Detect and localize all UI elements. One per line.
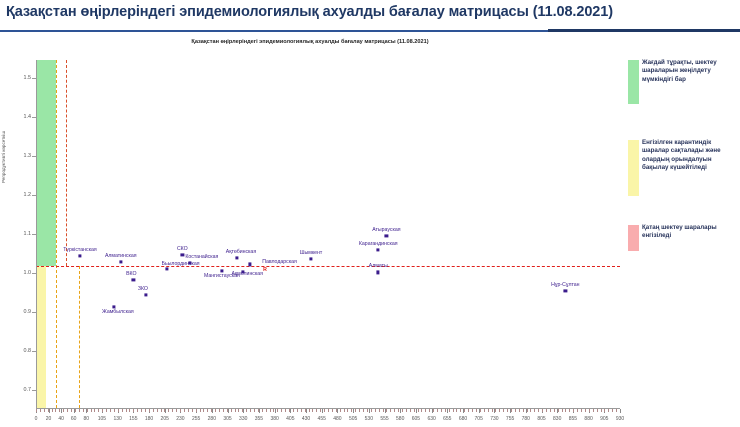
x-tick-minor-mark [293, 409, 294, 412]
x-tick-minor-mark [203, 409, 204, 412]
x-tick-minor-mark [604, 409, 605, 412]
x-tick-minor-mark [207, 409, 208, 412]
x-tick-minor-mark [410, 409, 411, 412]
y-tick-mark [32, 195, 36, 196]
data-point-label: Түркістанская [63, 247, 96, 253]
x-tick-minor-mark [347, 409, 348, 412]
x-tick-minor-mark [200, 409, 201, 412]
x-tick-label: 40 [58, 416, 64, 422]
x-tick-minor-mark [542, 409, 543, 412]
x-tick-minor-mark [386, 409, 387, 412]
x-tick-minor-mark [608, 409, 609, 412]
y-tick-label: 1.4 [24, 114, 32, 120]
x-tick-minor-mark [219, 409, 220, 412]
x-tick-minor-mark [316, 409, 317, 412]
x-tick-minor-mark [569, 409, 570, 412]
x-tick-minor-mark [484, 409, 485, 412]
x-tick-mark [337, 409, 338, 413]
data-point-label: Павлодарская [262, 259, 297, 265]
x-tick-label: 305 [223, 416, 231, 422]
x-tick-minor-mark [449, 409, 450, 412]
x-tick-minor-mark [456, 409, 457, 412]
x-tick-minor-mark [585, 409, 586, 412]
reference-line-r1 [36, 266, 620, 267]
x-tick-minor-mark [612, 409, 613, 412]
y-tick-mark [32, 390, 36, 391]
x-tick-label: 480 [333, 416, 341, 422]
x-tick-minor-mark [433, 409, 434, 412]
x-tick-minor-mark [122, 409, 123, 412]
x-tick-minor-mark [414, 409, 415, 412]
x-tick-minor-mark [554, 409, 555, 412]
x-tick-mark [306, 409, 307, 413]
x-tick-minor-mark [129, 409, 130, 412]
x-tick-minor-mark [285, 409, 286, 412]
legend-label: Қатаң шектеу шаралары енгізіледі [642, 224, 738, 241]
data-point [165, 268, 168, 271]
x-tick-minor-mark [273, 409, 274, 412]
x-tick-minor-mark [184, 409, 185, 412]
data-point-label: Алматинская [105, 253, 137, 259]
data-point [132, 279, 135, 282]
x-tick-minor-mark [507, 409, 508, 412]
x-axis-ticks: 0204060801051301551802052302552803053303… [36, 409, 620, 427]
data-point [78, 254, 81, 257]
x-tick-minor-mark [429, 409, 430, 412]
x-tick-label: 355 [255, 416, 263, 422]
header-divider-accent [548, 29, 740, 32]
x-tick-minor-mark [270, 409, 271, 412]
x-tick-minor-mark [40, 409, 41, 412]
x-tick-minor-mark [394, 409, 395, 412]
x-tick-minor-mark [406, 409, 407, 412]
data-point [564, 289, 567, 292]
x-tick-minor-mark [558, 409, 559, 412]
x-tick-minor-mark [149, 409, 150, 412]
x-tick-mark [243, 409, 244, 413]
x-tick-mark [275, 409, 276, 413]
y-tick-mark [32, 351, 36, 352]
x-tick-minor-mark [324, 409, 325, 412]
x-tick-mark [61, 409, 62, 413]
x-tick-minor-mark [383, 409, 384, 412]
x-tick-minor-mark [36, 409, 37, 412]
x-tick-label: 780 [522, 416, 530, 422]
x-tick-minor-mark [161, 409, 162, 412]
data-point [119, 261, 122, 264]
y-tick-label: 1.0 [24, 270, 32, 276]
x-tick-minor-mark [492, 409, 493, 412]
y-tick-label: 0.7 [24, 387, 32, 393]
x-tick-minor-mark [546, 409, 547, 412]
x-tick-minor-mark [79, 409, 80, 412]
y-tick-mark [32, 117, 36, 118]
x-tick-minor-mark [71, 409, 72, 412]
x-tick-label: 60 [71, 416, 77, 422]
x-tick-label: 105 [98, 416, 106, 422]
x-tick-label: 580 [396, 416, 404, 422]
x-tick-mark [385, 409, 386, 413]
legend-item: Қатаң шектеу шаралары енгізіледі [628, 225, 740, 251]
x-tick-minor-mark [192, 409, 193, 412]
x-tick-minor-mark [355, 409, 356, 412]
x-tick-label: 330 [239, 416, 247, 422]
x-tick-minor-mark [164, 409, 165, 412]
data-point-label: Атырауская [372, 227, 400, 233]
x-tick-mark [353, 409, 354, 413]
x-tick-minor-mark [480, 409, 481, 412]
x-tick-minor-mark [106, 409, 107, 412]
x-tick-minor-mark [305, 409, 306, 412]
x-tick-minor-mark [398, 409, 399, 412]
legend-item: Жағдай тұрақты, шектеу шараларын жеңілде… [628, 60, 740, 104]
x-tick-minor-mark [593, 409, 594, 412]
scatter-plot-area: ТүркістанскаяАлматинскаяСКОКостанайскаяБ… [36, 60, 620, 408]
x-tick-minor-mark [488, 409, 489, 412]
x-tick-mark [322, 409, 323, 413]
x-tick-minor-mark [98, 409, 99, 412]
x-tick-minor-mark [379, 409, 380, 412]
x-tick-minor-mark [312, 409, 313, 412]
zone-green-upper [36, 60, 56, 266]
y-tick-mark [32, 156, 36, 157]
x-tick-minor-mark [188, 409, 189, 412]
x-tick-label: 605 [412, 416, 420, 422]
x-tick-minor-mark [320, 409, 321, 412]
chart-title: Қазақстан өңірлеріндегі эпидемиологиялық… [0, 39, 620, 45]
x-tick-label: 655 [443, 416, 451, 422]
legend-label: Енгізілген карантиндік шаралар сақталады… [642, 139, 738, 173]
x-tick-minor-mark [530, 409, 531, 412]
x-tick-label: 530 [365, 416, 373, 422]
data-point-label: Мангистауская [204, 273, 240, 279]
x-tick-minor-mark [238, 409, 239, 412]
data-point-label: ВКО [126, 271, 136, 277]
x-tick-mark [49, 409, 50, 413]
legend-swatch [628, 225, 639, 251]
x-tick-minor-mark [55, 409, 56, 412]
x-tick-mark [620, 409, 621, 413]
x-tick-mark [259, 409, 260, 413]
threshold-line-green [56, 60, 57, 408]
x-tick-minor-mark [153, 409, 154, 412]
x-tick-minor-mark [289, 409, 290, 412]
x-tick-minor-mark [235, 409, 236, 412]
x-tick-minor-mark [519, 409, 520, 412]
x-tick-minor-mark [367, 409, 368, 412]
x-tick-minor-mark [44, 409, 45, 412]
x-tick-minor-mark [597, 409, 598, 412]
x-tick-minor-mark [340, 409, 341, 412]
y-tick-label: 1.1 [24, 231, 32, 237]
x-tick-minor-mark [441, 409, 442, 412]
x-tick-minor-mark [281, 409, 282, 412]
x-tick-minor-mark [59, 409, 60, 412]
x-tick-label: 755 [506, 416, 514, 422]
chart-figure: Қазақстан өңірлеріндегі эпидемиологиялық… [0, 33, 740, 405]
data-point-label: Бьылординская [162, 261, 200, 267]
y-axis-title: Репродуктивті көрсеткіш [1, 131, 6, 183]
data-point-label: Шымкент [300, 250, 323, 256]
x-tick-minor-mark [499, 409, 500, 412]
threshold-line-yellow-lower [79, 266, 80, 408]
x-tick-minor-mark [460, 409, 461, 412]
x-tick-minor-mark [83, 409, 84, 412]
x-tick-minor-mark [402, 409, 403, 412]
x-tick-label: 205 [161, 416, 169, 422]
x-tick-minor-mark [91, 409, 92, 412]
x-tick-label: 80 [83, 416, 89, 422]
x-tick-label: 280 [208, 416, 216, 422]
x-tick-label: 430 [302, 416, 310, 422]
x-tick-minor-mark [425, 409, 426, 412]
x-tick-minor-mark [250, 409, 251, 412]
x-tick-minor-mark [67, 409, 68, 412]
legend-swatch [628, 140, 639, 196]
x-tick-label: 230 [176, 416, 184, 422]
x-tick-minor-mark [437, 409, 438, 412]
x-tick-minor-mark [172, 409, 173, 412]
x-tick-minor-mark [254, 409, 255, 412]
legend-label: Жағдай тұрақты, шектеу шараларын жеңілде… [642, 59, 738, 84]
x-tick-minor-mark [145, 409, 146, 412]
x-tick-minor-mark [495, 409, 496, 412]
x-tick-label: 455 [318, 416, 326, 422]
x-tick-minor-mark [363, 409, 364, 412]
page-title: Қазақстан өңірлеріндегі эпидемиологиялық… [6, 4, 613, 20]
x-tick-label: 855 [569, 416, 577, 422]
x-tick-minor-mark [277, 409, 278, 412]
zone-yellow-upper [36, 266, 46, 408]
x-tick-label: 555 [380, 416, 388, 422]
x-tick-label: 880 [584, 416, 592, 422]
x-tick-label: 730 [490, 416, 498, 422]
x-tick-minor-mark [332, 409, 333, 412]
x-tick-minor-mark [336, 409, 337, 412]
data-point [181, 253, 184, 256]
x-tick-minor-mark [577, 409, 578, 412]
x-tick-minor-mark [223, 409, 224, 412]
chart-legend: Жағдай тұрақты, шектеу шараларын жеңілде… [628, 60, 740, 290]
data-point [144, 293, 147, 296]
data-point-label: R [263, 267, 267, 273]
x-tick-minor-mark [550, 409, 551, 412]
x-tick-minor-mark [196, 409, 197, 412]
x-tick-minor-mark [359, 409, 360, 412]
x-tick-minor-mark [418, 409, 419, 412]
x-tick-minor-mark [534, 409, 535, 412]
data-point [235, 257, 238, 260]
x-tick-minor-mark [371, 409, 372, 412]
x-tick-label: 380 [270, 416, 278, 422]
x-tick-minor-mark [211, 409, 212, 412]
x-tick-minor-mark [137, 409, 138, 412]
x-tick-minor-mark [472, 409, 473, 412]
legend-item: Енгізілген карантиндік шаралар сақталады… [628, 140, 740, 196]
x-tick-label: 405 [286, 416, 294, 422]
x-tick-mark [290, 409, 291, 413]
x-tick-minor-mark [168, 409, 169, 412]
x-tick-label: 130 [113, 416, 121, 422]
data-point [377, 248, 380, 251]
x-tick-minor-mark [589, 409, 590, 412]
x-tick-minor-mark [227, 409, 228, 412]
x-tick-minor-mark [421, 409, 422, 412]
x-tick-minor-mark [616, 409, 617, 412]
x-tick-label: 255 [192, 416, 200, 422]
x-tick-label: 0 [35, 416, 38, 422]
x-tick-minor-mark [75, 409, 76, 412]
x-tick-minor-mark [176, 409, 177, 412]
x-tick-minor-mark [126, 409, 127, 412]
threshold-line-yellow-upper [66, 60, 67, 266]
y-tick-mark [32, 78, 36, 79]
x-tick-minor-mark [157, 409, 158, 412]
x-tick-minor-mark [215, 409, 216, 412]
data-point-label: Нұр-Сұлтан [551, 282, 579, 288]
x-tick-label: 705 [475, 416, 483, 422]
x-tick-minor-mark [344, 409, 345, 412]
x-tick-minor-mark [581, 409, 582, 412]
y-tick-label: 1.3 [24, 153, 32, 159]
x-tick-minor-mark [94, 409, 95, 412]
x-tick-label: 930 [616, 416, 624, 422]
x-tick-minor-mark [301, 409, 302, 412]
y-axis-ticks: 0.70.80.91.01.11.21.31.41.5 [0, 60, 31, 408]
x-tick-minor-mark [351, 409, 352, 412]
x-tick-minor-mark [511, 409, 512, 412]
legend-swatch [628, 60, 639, 104]
data-point-label: Ақтөбинская [226, 249, 256, 255]
x-tick-label: 505 [349, 416, 357, 422]
x-tick-minor-mark [141, 409, 142, 412]
data-point [377, 271, 380, 274]
x-tick-label: 805 [537, 416, 545, 422]
data-point-label: ЗКО [138, 286, 148, 292]
data-point-label: СКО [177, 246, 188, 252]
y-tick-label: 0.8 [24, 348, 32, 354]
x-tick-minor-mark [464, 409, 465, 412]
x-tick-minor-mark [453, 409, 454, 412]
x-tick-minor-mark [52, 409, 53, 412]
y-tick-mark [32, 273, 36, 274]
y-tick-label: 1.5 [24, 75, 32, 81]
data-point-label: Алматы [369, 263, 388, 269]
x-tick-minor-mark [262, 409, 263, 412]
x-tick-minor-mark [468, 409, 469, 412]
x-tick-minor-mark [538, 409, 539, 412]
x-tick-minor-mark [515, 409, 516, 412]
x-tick-minor-mark [242, 409, 243, 412]
x-tick-label: 905 [600, 416, 608, 422]
x-tick-minor-mark [527, 409, 528, 412]
x-tick-minor-mark [180, 409, 181, 412]
x-tick-minor-mark [266, 409, 267, 412]
data-point-label: Карагандинская [359, 241, 398, 247]
x-tick-minor-mark [258, 409, 259, 412]
x-tick-label: 155 [129, 416, 137, 422]
x-tick-minor-mark [246, 409, 247, 412]
data-point [385, 234, 388, 237]
x-tick-minor-mark [562, 409, 563, 412]
x-tick-minor-mark [110, 409, 111, 412]
x-tick-minor-mark [476, 409, 477, 412]
x-tick-minor-mark [565, 409, 566, 412]
x-tick-minor-mark [118, 409, 119, 412]
x-tick-minor-mark [573, 409, 574, 412]
y-axis-line [36, 60, 37, 408]
x-tick-minor-mark [309, 409, 310, 412]
x-tick-minor-mark [503, 409, 504, 412]
x-tick-minor-mark [87, 409, 88, 412]
x-tick-minor-mark [375, 409, 376, 412]
x-tick-label: 630 [427, 416, 435, 422]
x-tick-minor-mark [48, 409, 49, 412]
x-tick-minor-mark [523, 409, 524, 412]
x-tick-minor-mark [231, 409, 232, 412]
data-point-label: Костанайская [185, 254, 218, 260]
x-tick-label: 180 [145, 416, 153, 422]
x-tick-label: 20 [46, 416, 52, 422]
x-tick-mark [369, 409, 370, 413]
x-tick-minor-mark [114, 409, 115, 412]
x-tick-minor-mark [63, 409, 64, 412]
data-point [248, 263, 251, 266]
x-tick-minor-mark [390, 409, 391, 412]
x-tick-minor-mark [297, 409, 298, 412]
x-tick-label: 680 [459, 416, 467, 422]
y-tick-mark [32, 234, 36, 235]
x-tick-minor-mark [102, 409, 103, 412]
data-point [309, 257, 312, 260]
x-tick-label: 830 [553, 416, 561, 422]
y-tick-label: 1.2 [24, 192, 32, 198]
x-tick-minor-mark [328, 409, 329, 412]
y-tick-mark [32, 312, 36, 313]
data-point-label: Жамбылская [102, 309, 134, 315]
page-header: Қазақстан өңірлеріндегі эпидемиологиялық… [0, 0, 740, 31]
x-tick-minor-mark [445, 409, 446, 412]
x-tick-minor-mark [133, 409, 134, 412]
x-tick-minor-mark [601, 409, 602, 412]
y-tick-label: 0.9 [24, 309, 32, 315]
